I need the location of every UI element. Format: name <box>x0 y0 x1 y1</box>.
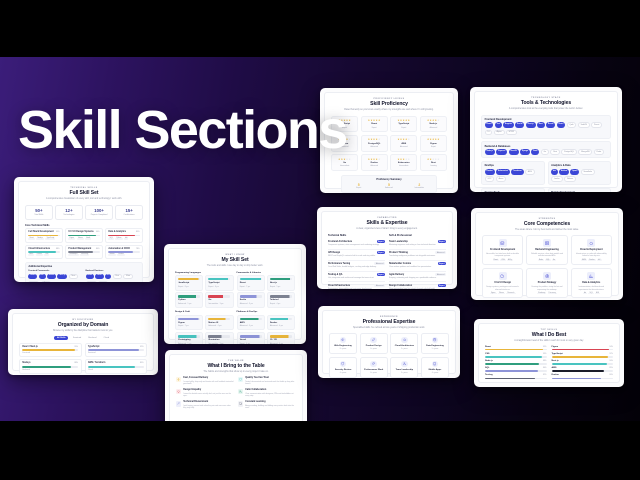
expertise-item: Design CollaborationExpertClose partners… <box>389 282 446 289</box>
skill-bar-block: Cloud Infrastructure88%AWSDockerK8s <box>25 245 63 259</box>
tool-pill[interactable]: Alpine <box>494 130 505 136</box>
tool-pill[interactable]: Terraform <box>511 169 523 175</box>
card-subtitle: The areas where I do my best work and de… <box>482 229 612 232</box>
domain-tab[interactable]: All Skills <box>54 336 68 340</box>
progress-fill <box>22 366 71 368</box>
skill-columns: Programming LanguagesJavaScriptExpert · … <box>175 272 295 345</box>
competency-name: Backend Engineering <box>530 249 564 252</box>
skill-percent: 85% <box>136 231 140 233</box>
skill-tag: React <box>28 238 34 240</box>
item-description: REST and GraphQL contracts built to scal… <box>328 255 385 258</box>
skill-tag: Figma <box>68 238 75 240</box>
competency-tag: A11y <box>507 259 513 261</box>
tool-pill[interactable]: Svelte <box>515 122 524 128</box>
item-name: Cloud Infrastructure <box>328 285 350 287</box>
skill-name: Svelte <box>240 299 262 302</box>
top-skill-row: Node.js88% <box>485 360 547 364</box>
skill-name: Data & Analytics <box>108 231 126 233</box>
level-badge: Advanced <box>374 262 385 265</box>
tool-pill[interactable]: Vue <box>39 274 46 280</box>
skill-name: Tailwind <box>270 299 292 302</box>
skill-level: Intermediate <box>393 165 415 167</box>
skill-tags: GitHubJenkins <box>108 254 139 256</box>
card-subtitle: A comprehensive look at the everyday too… <box>481 108 611 111</box>
skill-tags: ReactNode.jsTypeScript <box>28 238 59 240</box>
icon-box <box>543 239 551 247</box>
value-item: Technical DiscernmentI pick boring, prov… <box>176 401 234 410</box>
domain-filter-tabs[interactable]: All SkillsFrontendBackendCloud <box>19 336 147 340</box>
tool-pill[interactable]: Remix <box>546 122 555 128</box>
tool-pill[interactable]: Rust <box>550 149 560 155</box>
tool-group: Analytics & DatadbtAirflowSparkSnowflake… <box>548 161 612 185</box>
card-subtitle: The habits and strengths that show up in… <box>176 371 296 374</box>
skill-column: Programming LanguagesJavaScriptExpert · … <box>175 272 234 345</box>
skill-header: Testing82% <box>485 374 547 376</box>
expertise-item: API DesignExpertREST and GraphQL contrac… <box>328 250 385 261</box>
card-my-skill-set[interactable]: WHAT I KNOW My Skill Set The tools and s… <box>164 244 306 344</box>
stat-label: Certifications <box>117 214 141 217</box>
skill-cards: ReactExpert · 7 yrsNext.jsExpert · 5 yrs… <box>237 275 296 308</box>
star-icon: ★ <box>437 138 440 141</box>
competency-name: UI & UX Design <box>486 282 520 285</box>
skill-percent: 92% <box>140 346 144 348</box>
layers-icon <box>500 241 504 245</box>
tool-pill-row: Node.jsExpressNestJSDjangoRailsGoRustPos… <box>485 149 608 155</box>
card-title: What I Do Best <box>485 332 613 339</box>
progress-fill <box>485 349 543 350</box>
competency-tag: Go <box>552 259 556 261</box>
tool-row: Backend & DatabasesNode.jsExpressNestJSD… <box>481 141 611 158</box>
top-skills-grid: React95%Figma94%CSS93%TypeScript92%Node.… <box>485 346 613 379</box>
skill-name: Node.js <box>22 362 30 364</box>
skill-level: Expert <box>393 127 415 129</box>
star-rating: ★★★★★ <box>393 158 415 161</box>
tool-pill[interactable]: Astro <box>557 122 566 128</box>
tool-groups: Frontend FrameworksReactVueSvelteNext.js… <box>28 270 139 282</box>
skill-name: Go <box>208 299 230 302</box>
tool-pill[interactable]: Spark <box>570 169 579 175</box>
card-full-skill-set[interactable]: TECHNICAL SKILLS Full Skill Set A compre… <box>14 177 154 282</box>
skill-name: React <box>485 346 491 348</box>
tool-pill[interactable]: AWS <box>525 169 535 175</box>
star-icon: ★ <box>378 119 381 122</box>
item-name: Frontend Architecture <box>328 241 352 243</box>
skill-name: React / Next.js <box>22 346 37 348</box>
tool-pill[interactable]: Remix <box>28 281 39 282</box>
skill-name: CSS <box>485 353 490 355</box>
progress-track <box>485 378 547 379</box>
icon-box <box>176 389 181 394</box>
expertise-years: 5+ years <box>393 372 416 374</box>
tool-pill[interactable]: dbt <box>551 169 558 175</box>
card-subtitle: Browse my skills by the discipline that … <box>19 330 147 333</box>
skill-name: TypeScript <box>552 353 563 355</box>
section-label: Additional Expertise <box>28 265 139 268</box>
competency-tag: dbt <box>583 293 587 295</box>
tool-group: Mobile DevelopmentReact NativeExpoSwiftK… <box>548 188 612 192</box>
value-name: Technical Discernment <box>183 401 234 404</box>
competency-tag: Tokens <box>498 293 505 295</box>
skill-bar-block: Full Stack Development95%ReactNode.jsTyp… <box>25 228 63 242</box>
progress-track <box>552 363 614 364</box>
item-header: Agile DeliveryAdvanced <box>389 273 446 276</box>
proficiency-card: ★★★★★RustLearning <box>420 154 447 171</box>
palette-icon <box>500 274 504 278</box>
proficiency-card: ★★★★★Node.jsAdvanced <box>420 116 447 133</box>
competency-tag: Roadmap <box>537 293 546 295</box>
domain-tab[interactable]: Cloud <box>101 336 112 340</box>
domain-tab[interactable]: Frontend <box>70 336 84 340</box>
skill-accent <box>240 295 262 298</box>
skill-accent <box>240 278 262 281</box>
competency-tag: AWS <box>581 259 587 261</box>
skill-card: SvelteAdvanced · 3 yrs <box>237 292 265 308</box>
item-name: Team Leadership <box>389 241 408 243</box>
tool-pill[interactable]: Next.js <box>526 122 536 128</box>
stat-label: Total Skills <box>27 214 51 217</box>
card-title: My Skill Set <box>175 257 295 264</box>
skill-accent <box>178 335 200 338</box>
tool-pill[interactable]: Node <box>86 274 94 280</box>
competency-grid: Frontend DevelopmentAccessible, fast int… <box>482 235 612 298</box>
icon-box <box>176 377 181 382</box>
skill-percent: 88% <box>543 360 547 362</box>
skill-bar-header: TypeScript92% <box>88 346 144 348</box>
skill-card: TailwindExpert · 4 yrs <box>267 292 295 308</box>
tool-pill[interactable]: Nuxt <box>537 122 545 128</box>
progress-fill <box>552 356 609 357</box>
expertise-item: Agile DeliveryAdvancedScoping, estimatin… <box>389 272 446 283</box>
skill-accent <box>178 318 200 321</box>
card-subtitle: A comprehensive breakdown of every skill… <box>25 198 143 201</box>
skill-tag: TypeScript <box>45 238 55 240</box>
progress-track <box>552 378 614 379</box>
skill-name: Product Management <box>68 248 91 250</box>
skill-card: JavaScriptExpert · 8 yrs <box>175 275 203 291</box>
proficiency-card: ★★★★★FigmaExpert <box>420 135 447 152</box>
expertise-years: 4+ years <box>332 372 355 374</box>
summary-stat: 5Advanced <box>375 183 403 189</box>
icon-box <box>499 272 507 280</box>
skill-tags: RoadmapsDiscovery <box>68 254 99 256</box>
tool-pill[interactable]: Docker <box>485 169 495 175</box>
skill-name: TypeScript <box>88 346 99 348</box>
skill-bar-header: Full Stack Development95% <box>28 231 59 233</box>
progress-track <box>108 251 139 253</box>
progress-track <box>68 251 99 253</box>
item-description: Close partnership from first sketch thro… <box>389 288 446 289</box>
skill-tag: Python <box>115 238 122 240</box>
card-organized-by-domain[interactable]: BY DISCIPLINE Organized by Domain Browse… <box>8 309 158 375</box>
icon-box <box>543 272 551 280</box>
card-title: Skills & Expertise <box>328 220 446 227</box>
tool-pill[interactable]: Django <box>86 281 98 282</box>
skill-name: Illustration <box>208 339 230 342</box>
competency-description: Accessible, fast interfaces built on dur… <box>486 253 520 258</box>
icon-circle <box>432 361 438 367</box>
progress-track <box>88 366 144 368</box>
skill-bar-header: Automation & CI/CD78% <box>108 248 139 250</box>
value-name: Quality You Can Trust <box>245 377 296 380</box>
group-label: Platforms & DevOps <box>237 311 296 313</box>
group-label: Programming Languages <box>175 272 234 274</box>
competency-card: Backend EngineeringReliable services, cl… <box>526 235 567 265</box>
expertise-item: Testing & QAExpertUnit, integration and … <box>328 272 385 283</box>
skill-card: CI / CDAdvanced · 5 yrs <box>267 332 295 344</box>
tool-group: DevOpsDockerKubernetesTerraformAWSGCPAzu… <box>481 161 545 185</box>
skill-bar-header: UI / UX Design Systems90% <box>68 231 99 233</box>
tool-group-label: DevOps <box>485 164 541 167</box>
tool-pill[interactable]: Looker <box>551 176 562 182</box>
domain-skill-block: React / Next.js95%Frontend <box>19 343 82 357</box>
tool-pill[interactable]: Express <box>496 149 507 155</box>
skill-meta: Expert · 4 yrs <box>270 303 292 305</box>
star-rating: ★★★★★ <box>393 119 415 122</box>
card-title: Professional Expertise <box>329 319 449 326</box>
mobile-icon <box>433 362 436 365</box>
tool-pill[interactable]: SolidJS <box>578 122 590 128</box>
top-skill-row: React95% <box>485 346 547 350</box>
tool-pill[interactable]: Qwik <box>567 122 577 128</box>
tool-pill[interactable]: Go <box>541 149 549 155</box>
expertise-item: Stakeholder CommsExpertClear written upd… <box>389 261 446 272</box>
tool-pill[interactable]: Rails <box>98 281 108 282</box>
tool-pill[interactable]: Preact <box>591 122 602 128</box>
skill-accent <box>208 335 230 338</box>
skill-meta: Expert · 6 yrs <box>208 286 230 288</box>
skill-percent: 90% <box>609 360 613 362</box>
competency-tag: Research <box>506 293 515 295</box>
progress-track <box>88 349 144 351</box>
skill-percent: 78% <box>136 248 140 250</box>
skill-bar-header: React / Next.js95% <box>22 346 78 348</box>
icon-box <box>238 401 243 406</box>
competency-tag: Discovery <box>548 293 557 295</box>
skill-accent <box>208 278 230 281</box>
skill-bar-header: Data & Analytics85% <box>108 231 139 233</box>
tool-pill[interactable]: Go <box>105 274 111 280</box>
tool-pill[interactable]: Next.js <box>57 274 67 280</box>
tool-pill[interactable]: Lit <box>485 130 493 136</box>
progress-track <box>22 349 78 351</box>
tool-pill[interactable]: React <box>28 274 37 280</box>
skill-meta: Intermediate · 3 yrs <box>208 303 230 305</box>
tool-pill[interactable]: Deno <box>95 274 103 280</box>
cloud-icon <box>403 338 406 341</box>
card-professional-expertise[interactable]: EXPERIENCE Professional Expertise Specia… <box>318 306 460 378</box>
skill-name: TypeScript <box>208 282 230 285</box>
level-badge: Advanced <box>435 251 446 254</box>
tool-pill[interactable]: Azure <box>496 176 507 182</box>
expertise-years: 8+ years <box>332 348 355 350</box>
tool-pill[interactable]: Snowflake <box>581 169 595 175</box>
skill-tag: Node.js <box>36 238 44 240</box>
tool-pill[interactable]: PostgreSQL <box>561 149 577 155</box>
tool-pill[interactable]: Node.js <box>485 149 495 155</box>
tool-pill[interactable]: Airflow <box>559 169 569 175</box>
skill-percent: 85% <box>609 367 613 369</box>
letterbox-bottom <box>0 421 640 480</box>
tool-pill[interactable]: NestJS <box>509 149 519 155</box>
competency-card: Frontend DevelopmentAccessible, fast int… <box>482 235 523 265</box>
proficiency-grid: ★★★★★JavaScriptExpert★★★★★ReactExpert★★★… <box>331 116 447 171</box>
item-header: Cloud InfrastructureAdvanced <box>328 284 385 287</box>
progress-fill <box>68 251 93 253</box>
level-badge: Expert <box>377 273 385 276</box>
skill-cards: FigmaExpert · 7 yrsMotion UIAdvanced · 4… <box>175 315 234 344</box>
progress-track <box>485 356 547 357</box>
skill-tag: Audit <box>85 238 91 240</box>
expertise-item: Product ThinkingAdvancedTranslating ambi… <box>389 250 446 261</box>
skill-card: PythonAdvanced · 5 yrs <box>175 292 203 308</box>
card-subtitle: Rated honestly so you know exactly where… <box>331 109 447 112</box>
competency-description: Design systems, prototypes and research-… <box>486 286 520 291</box>
card-tools-technologies[interactable]: TECHNOLOGY STACK Tools & Technologies A … <box>470 87 622 192</box>
section-label: Core Technical Skills <box>25 224 143 227</box>
tool-pill[interactable]: Django <box>520 149 530 155</box>
tool-pill[interactable]: Elixir <box>123 274 133 280</box>
skill-header: Node.js88% <box>485 360 547 362</box>
skill-level: Learning <box>422 165 444 167</box>
progress-track <box>552 356 614 357</box>
competency-tag: CSS <box>500 259 506 261</box>
tool-group: Backend RuntimesNodeDenoGoRustElixirDjan… <box>86 270 140 282</box>
progress-track <box>108 235 139 237</box>
summary-stat: 2Intermediate <box>405 183 433 189</box>
card-core-competencies[interactable]: STRENGTHS Core Competencies The areas wh… <box>471 208 623 300</box>
card-subtitle: The tools and skills I use day to day to… <box>175 265 295 268</box>
skill-tag: Docker <box>36 254 43 256</box>
tool-pill[interactable]: Svelte <box>47 274 56 280</box>
domain-tab[interactable]: Backend <box>86 336 99 340</box>
item-name: API Design <box>328 252 340 254</box>
skill-header: Docker80% <box>552 374 614 376</box>
value-text: Calm CollaborationClear communication wi… <box>245 389 296 398</box>
star-rating: ★★★★★ <box>363 138 385 141</box>
competency-tag: Node <box>538 259 544 261</box>
item-description: Component systems, state management and … <box>328 244 385 247</box>
tool-pill[interactable]: Vue <box>495 122 502 128</box>
slide-canvas: Skill Sections TECHNICAL SKILLS Full Ski… <box>0 57 640 421</box>
screenshot-stage: Skill Sections TECHNICAL SKILLS Full Ski… <box>0 0 640 480</box>
expertise-card: Security Review4+ years <box>329 357 357 378</box>
skill-meta: Advanced · 3 yrs <box>240 303 262 305</box>
expertise-card: Web Engineering8+ years <box>329 333 357 354</box>
level-badge: Advanced <box>374 284 385 287</box>
skill-meta: Cloud <box>88 369 144 371</box>
item-description: Unit, integration and end-to-end coverag… <box>328 277 385 280</box>
skill-name: Prototyping <box>178 339 200 342</box>
competency-tags: dbtSQLA/B <box>574 293 608 295</box>
skill-card: Motion UIAdvanced · 4 yrs <box>205 315 233 331</box>
competency-tags: ReactCSSA11y <box>486 259 520 261</box>
card-title: Core Competencies <box>482 221 612 228</box>
competency-tags: RoadmapDiscovery <box>530 293 564 295</box>
progress-fill <box>552 370 604 371</box>
expertise-card: Team Leadership5+ years <box>390 357 418 378</box>
star-icon: ★ <box>378 138 381 141</box>
tool-pill[interactable]: Redis <box>594 149 605 155</box>
title-block: Skill Sections <box>18 100 347 160</box>
card-title: What I Bring to the Table <box>176 363 296 370</box>
tool-pill[interactable]: Astro <box>41 281 51 282</box>
skill-percent: 80% <box>96 248 100 250</box>
competency-card: Product StrategyFraming the problem, siz… <box>526 268 567 298</box>
skill-percent: 80% <box>609 374 613 376</box>
star-rating: ★★★★★ <box>422 138 444 141</box>
expertise-item: Performance TuningAdvancedCore Web Vital… <box>328 261 385 272</box>
item-name: Product Thinking <box>389 252 408 254</box>
tool-pill[interactable]: Rust <box>113 274 123 280</box>
expertise-column: Technical SkillsFrontend ArchitectureExp… <box>328 234 385 289</box>
tool-pill[interactable]: Tableau <box>564 176 576 182</box>
tool-pill[interactable]: GCP <box>485 176 495 182</box>
value-description: I sweat the details users actually feel,… <box>183 393 234 398</box>
star-rating: ★★★★★ <box>422 158 444 161</box>
stat-chip: 100+Projects Completed <box>85 205 113 220</box>
column-label: Soft & Professional <box>389 234 446 237</box>
item-name: Performance Tuning <box>328 263 350 265</box>
skill-meta: Intermediate · 3 yrs <box>208 343 230 344</box>
stat-value: 50+ <box>27 208 51 213</box>
skill-bar-block: Data & Analytics85%SQLPythondbt <box>105 228 143 242</box>
skill-percent: 88% <box>74 362 78 364</box>
skill-meta: Expert · 5 yrs <box>270 286 292 288</box>
value-text: Constant LearningAlways reading, buildin… <box>245 401 296 410</box>
top-skill-row: Docker80% <box>552 374 614 378</box>
level-badge: Advanced <box>435 273 446 276</box>
skill-accent <box>208 295 230 298</box>
skill-name: Python <box>178 299 200 302</box>
shield-icon <box>341 362 344 365</box>
tool-pill[interactable]: Nuxt <box>69 274 79 280</box>
domain-skill-block: TypeScript92%Frontend <box>85 343 148 357</box>
expertise-column: Soft & ProfessionalTeam LeadershipExpert… <box>389 234 446 289</box>
skill-accent <box>270 295 292 298</box>
card-what-i-do-best[interactable]: TOP SKILLS What I Do Best A straightforw… <box>474 319 624 387</box>
skill-meta: Expert · 7 yrs <box>178 325 200 327</box>
competency-card: UI & UX DesignDesign systems, prototypes… <box>482 268 523 298</box>
top-skill-row: CSS93% <box>485 353 547 357</box>
card-title: Tools & Technologies <box>481 100 611 107</box>
wrench-icon <box>177 402 180 405</box>
skill-cards: JavaScriptExpert · 8 yrsTypeScriptExpert… <box>175 275 234 308</box>
stat-chip: 50+Total Skills <box>25 205 53 220</box>
tool-pill[interactable]: Kubernetes <box>496 169 510 175</box>
progress-fill <box>28 235 58 237</box>
card-bring-to-table[interactable]: THE VALUE What I Bring to the Table The … <box>165 350 307 421</box>
card-skills-expertise[interactable]: CAPABILITIES Skills & Expertise A clear,… <box>317 207 457 289</box>
item-name: Design Collaboration <box>389 285 412 287</box>
card-subtitle: A clear, organized view of what I bring … <box>328 228 446 231</box>
tool-pill[interactable]: HTMX <box>506 130 517 136</box>
tool-pill[interactable]: MongoDB <box>578 149 592 155</box>
skill-name: Docker <box>552 374 559 376</box>
tool-group-label: Analytics & Data <box>551 164 607 167</box>
skill-accent <box>270 335 292 338</box>
skill-bar-block: Automation & CI/CD78%GitHubJenkins <box>105 245 143 259</box>
progress-fill <box>552 363 607 364</box>
skill-accent <box>178 278 200 281</box>
icon-circle <box>401 337 407 343</box>
skill-level: Intermediate <box>334 165 356 167</box>
tool-pill[interactable]: Rails <box>531 149 539 155</box>
skill-name: Next.js <box>552 360 559 362</box>
expertise-card: Product Design6+ years <box>360 333 388 354</box>
pen-icon <box>372 338 375 341</box>
tool-pill[interactable]: React <box>485 122 494 128</box>
tool-pill[interactable]: Angular <box>503 122 514 128</box>
